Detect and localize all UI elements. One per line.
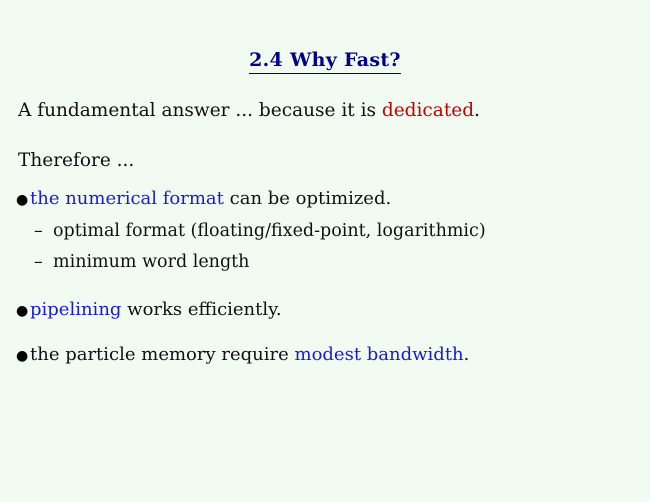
answer-paragraph: A fundamental answer ... because it is d… — [18, 100, 480, 122]
therefore-paragraph: Therefore ... — [18, 150, 134, 172]
slide-title-row: 2.4 Why Fast? — [0, 50, 650, 74]
sub-list-item-text: minimum word length — [53, 252, 249, 273]
bullet-tail-text: can be optimized. — [224, 188, 391, 209]
dash-marker-icon: – — [34, 221, 53, 242]
list-item-text: the numerical format can be optimized. — [30, 188, 391, 210]
page-title: 2.4 Why Fast? — [249, 50, 401, 74]
answer-lead-text: A fundamental answer ... because it is — [18, 100, 382, 121]
list-item: ● the particle memory require modest ban… — [16, 344, 469, 366]
bullet-tail-text: works efficiently. — [121, 299, 281, 320]
bullet-tail-text: . — [464, 344, 470, 365]
list-item-text: pipelining works efficiently. — [30, 299, 282, 321]
bullet-emphasis-modest-bandwidth: modest bandwidth — [295, 344, 464, 365]
dash-marker-icon: – — [34, 252, 53, 273]
bullet-lead-text: the particle memory require — [30, 344, 295, 365]
sub-list-item-text: optimal format (floating/fixed-point, lo… — [53, 221, 486, 242]
bullet-dot-icon: ● — [16, 193, 30, 207]
answer-tail-text: . — [474, 100, 480, 121]
presentation-slide: 2.4 Why Fast? A fundamental answer ... b… — [0, 0, 650, 502]
bullet-emphasis-pipelining: pipelining — [30, 299, 121, 320]
sub-list-item: – optimal format (floating/fixed-point, … — [34, 221, 486, 242]
answer-emphasis-dedicated: dedicated — [382, 100, 474, 121]
bullet-dot-icon: ● — [16, 349, 30, 363]
bullet-dot-icon: ● — [16, 304, 30, 318]
list-item: ● the numerical format can be optimized. — [16, 188, 391, 210]
bullet-emphasis-numerical-format: the numerical format — [30, 188, 224, 209]
therefore-text: Therefore ... — [18, 150, 134, 171]
list-item: ● pipelining works efficiently. — [16, 299, 282, 321]
sub-list-item: – minimum word length — [34, 252, 249, 273]
list-item-text: the particle memory require modest bandw… — [30, 344, 469, 366]
